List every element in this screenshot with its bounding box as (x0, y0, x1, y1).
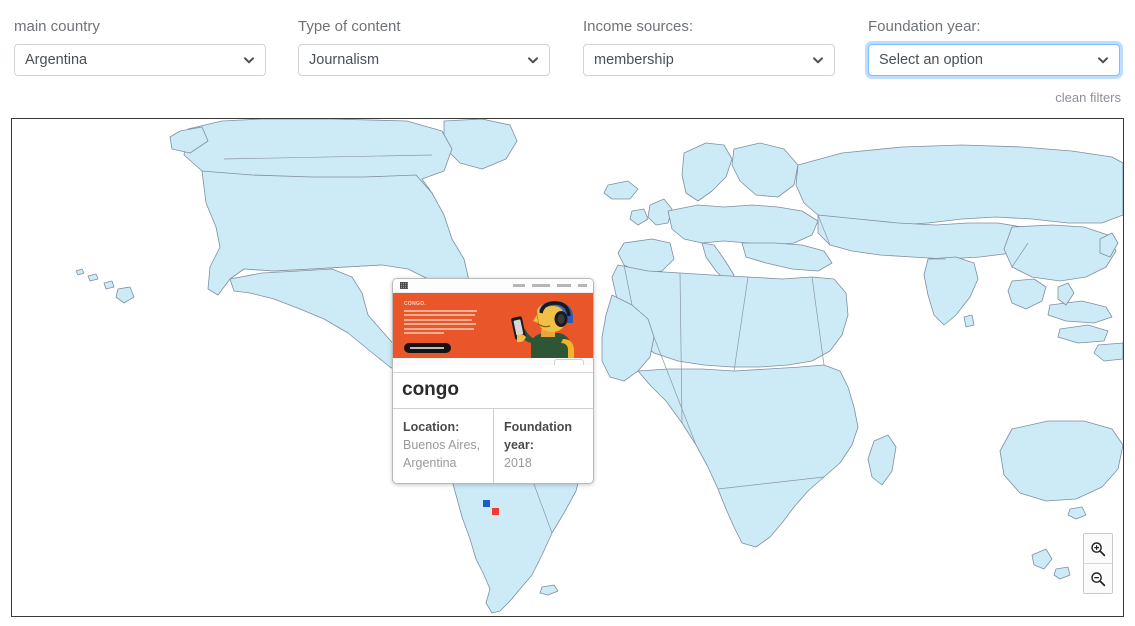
map-zoom-controls (1083, 533, 1113, 594)
popup-thumbnail: CONGO. (393, 279, 593, 373)
map-popup-card[interactable]: CONGO. (392, 278, 594, 484)
select-shell-main-country: Argentina (14, 44, 266, 76)
filter-foundation-year: Foundation year: Select an option (868, 18, 1120, 76)
popup-title-row: congo (393, 373, 593, 409)
select-shell-income-sources: membership (583, 44, 835, 76)
select-shell-type-of-content: Journalism (298, 44, 550, 76)
zoom-out-button[interactable] (1084, 563, 1112, 593)
select-type-of-content[interactable]: Journalism (298, 44, 550, 76)
map-explorer-page: main country Argentina Type of content J… (0, 0, 1135, 626)
thumbnail-desk (393, 358, 593, 365)
filter-main-country: main country Argentina (14, 18, 266, 76)
chevron-down-icon (1097, 54, 1109, 66)
filter-label-main-country: main country (14, 18, 266, 36)
thumbnail-navbar (393, 279, 593, 293)
popup-foundation-label: Foundation year: (504, 418, 584, 454)
thumbnail-cta-button (404, 343, 451, 353)
select-value-income-sources: membership (594, 52, 806, 68)
popup-details: Location: Buenos Aires, Argentina Founda… (393, 409, 593, 483)
filter-label-type-of-content: Type of content (298, 18, 550, 36)
select-main-country[interactable]: Argentina (14, 44, 266, 76)
select-income-sources[interactable]: membership (583, 44, 835, 76)
popup-location-value: Buenos Aires, Argentina (403, 436, 484, 472)
filter-label-income-sources: Income sources: (583, 18, 835, 36)
select-foundation-year[interactable]: Select an option (868, 44, 1120, 76)
thumbnail-nav-links (513, 284, 587, 287)
zoom-in-button[interactable] (1084, 534, 1112, 563)
popup-title: congo (402, 379, 584, 401)
popup-foundation-column: Foundation year: 2018 (493, 409, 593, 483)
filter-income-sources: Income sources: membership (583, 18, 835, 76)
filter-bar: main country Argentina Type of content J… (0, 0, 1135, 112)
select-shell-foundation-year: Select an option (868, 44, 1120, 76)
thumbnail-illustration-icon (511, 299, 585, 359)
chevron-down-icon (527, 54, 539, 66)
thumbnail-logo-icon (400, 282, 408, 289)
select-value-foundation-year: Select an option (879, 52, 1091, 68)
map-marker-red[interactable] (492, 508, 499, 515)
thumbnail-site-name: CONGO. (404, 301, 426, 307)
chevron-down-icon (812, 54, 824, 66)
filter-label-foundation-year: Foundation year: (868, 18, 1120, 36)
filter-type-of-content: Type of content Journalism (298, 18, 550, 76)
chevron-down-icon (243, 54, 255, 66)
zoom-in-icon (1090, 541, 1106, 557)
clean-filters-link[interactable]: clean filters (1055, 90, 1121, 105)
zoom-out-icon (1090, 571, 1106, 587)
select-value-main-country: Argentina (25, 52, 237, 68)
thumbnail-hero: CONGO. (393, 293, 593, 365)
thumbnail-body-text (404, 310, 477, 336)
popup-foundation-value: 2018 (504, 454, 584, 472)
select-value-type-of-content: Journalism (309, 52, 521, 68)
popup-location-column: Location: Buenos Aires, Argentina (393, 409, 493, 483)
popup-location-label: Location: (403, 418, 484, 436)
map-marker-blue[interactable] (483, 500, 490, 507)
